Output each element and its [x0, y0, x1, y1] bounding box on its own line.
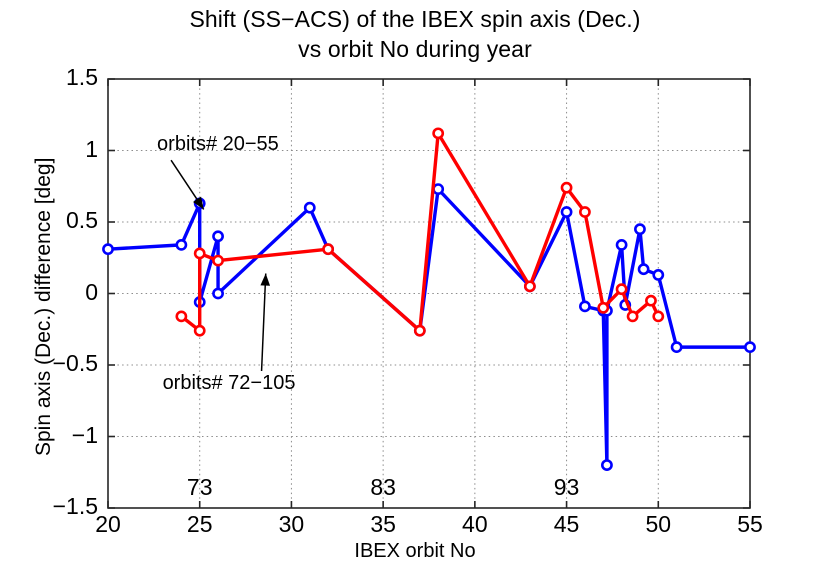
data-point-marker — [635, 225, 644, 234]
gridlines — [108, 79, 750, 508]
data-point-marker — [103, 245, 112, 254]
data-point-marker — [602, 461, 611, 470]
data-point-marker — [654, 270, 663, 279]
data-point-marker — [654, 312, 663, 321]
data-point-marker — [305, 203, 314, 212]
chart-title-line-2: vs orbit No during year — [0, 34, 830, 64]
data-point-marker — [628, 312, 637, 321]
data-point-marker — [672, 343, 681, 352]
data-point-marker — [415, 326, 424, 335]
data-point-marker — [213, 232, 222, 241]
x-tick-label: 50 — [618, 511, 698, 538]
chart-figure: Shift (SS−ACS) of the IBEX spin axis (De… — [0, 0, 830, 573]
data-point-marker — [599, 303, 608, 312]
x-tick-label: 25 — [160, 511, 240, 538]
chart-title-line-1: Shift (SS−ACS) of the IBEX spin axis (De… — [0, 4, 830, 34]
data-point-marker — [617, 285, 626, 294]
data-point-marker — [580, 207, 589, 216]
y-tick-label: 0 — [12, 279, 98, 306]
data-point-marker — [177, 312, 186, 321]
data-point-marker — [195, 326, 204, 335]
y-tick-label: −1 — [12, 422, 98, 449]
data-point-marker — [195, 249, 204, 258]
data-point-marker — [745, 343, 754, 352]
annotation-arrow-head — [260, 273, 270, 285]
y-tick-label: 0.5 — [12, 207, 98, 234]
data-point-marker — [646, 296, 655, 305]
data-point-marker — [580, 302, 589, 311]
data-point-marker — [213, 289, 222, 298]
data-point-marker — [324, 245, 333, 254]
x-tick-label: 55 — [710, 511, 790, 538]
data-point-marker — [525, 282, 534, 291]
x-tick-label: 30 — [251, 511, 331, 538]
y-tick-label: −0.5 — [12, 350, 98, 377]
data-point-marker — [562, 183, 571, 192]
data-point-marker — [434, 129, 443, 138]
x-axis-label: IBEX orbit No — [0, 540, 830, 563]
chart-title: Shift (SS−ACS) of the IBEX spin axis (De… — [0, 4, 830, 64]
data-point-marker — [562, 207, 571, 216]
data-point-marker — [177, 240, 186, 249]
x-tick-label: 20 — [68, 511, 148, 538]
data-point-marker — [617, 240, 626, 249]
y-tick-label: 1.5 — [12, 64, 98, 91]
data-series — [103, 129, 754, 470]
x-tick-label: 35 — [343, 511, 423, 538]
annotation-arrow-line — [262, 273, 266, 371]
y-axis-label: Spin axis (Dec.) difference [deg] — [32, 158, 56, 456]
x-tick-label: 45 — [527, 511, 607, 538]
y-tick-label: 1 — [12, 136, 98, 163]
data-point-marker — [639, 265, 648, 274]
data-point-marker — [213, 256, 222, 265]
plot-area — [108, 79, 750, 508]
x-tick-label: 40 — [435, 511, 515, 538]
